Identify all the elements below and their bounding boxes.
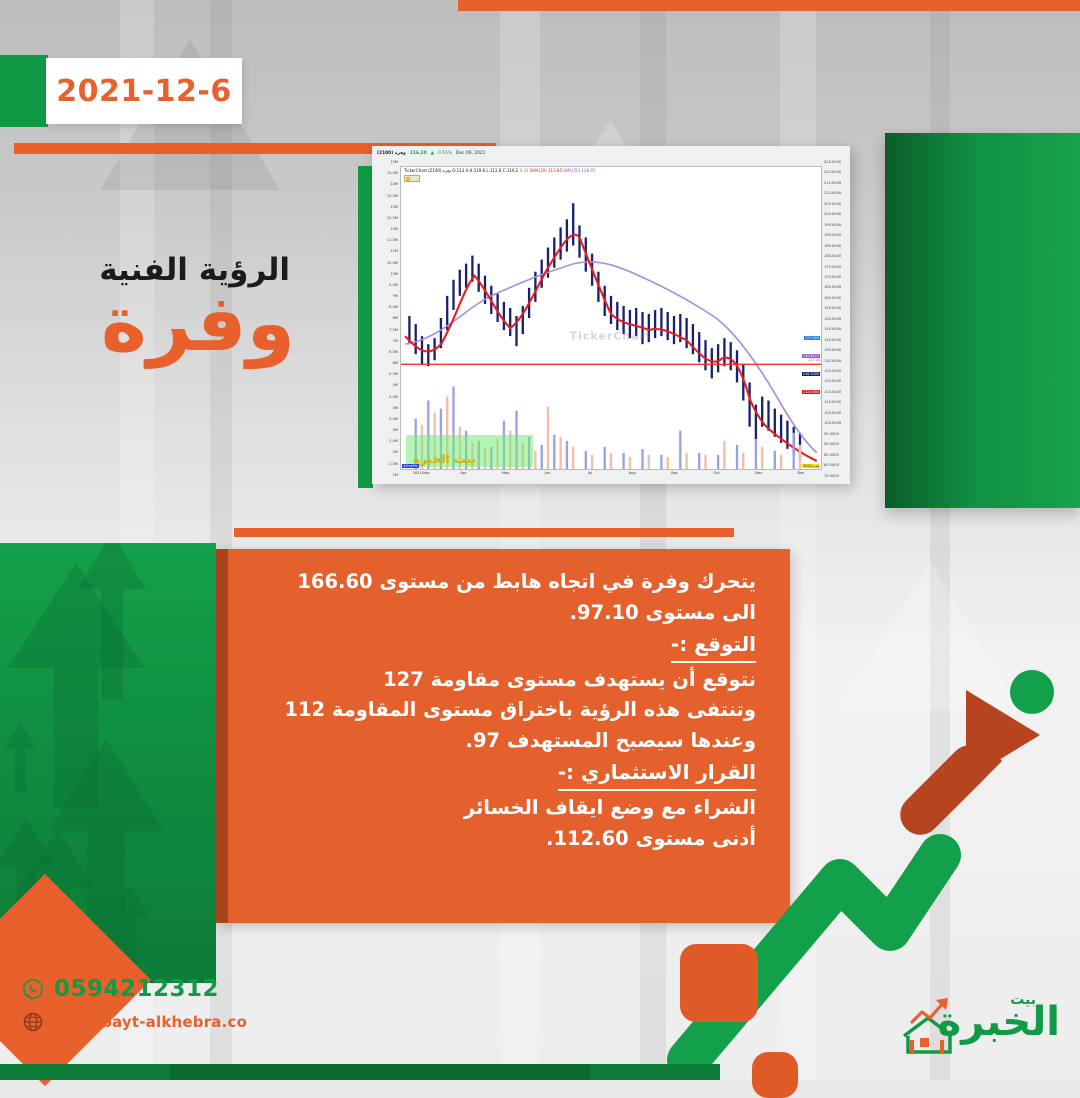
y-tick-right: 145.0000	[824, 327, 841, 331]
x-tick: 2021/Mar	[400, 471, 442, 483]
y-tick-left: 3.5M	[389, 417, 398, 421]
chart-last-price: 116.20	[410, 151, 427, 156]
ohlc-values: TickerChart وفرة (2100) O:113.4 H:119.6 …	[404, 168, 518, 173]
y-tick-left: 9.5M	[389, 283, 398, 287]
y-tick-left: 2M	[393, 450, 398, 454]
y-tick-right: 170.0000	[824, 275, 841, 279]
y-tick-left: 8M	[393, 316, 398, 320]
chart-plot-area: TickerChart وفرة (2100) O:113.4 H:119.6 …	[400, 166, 822, 470]
y-tick-left: 3M	[393, 428, 398, 432]
logo-text-main: الخبرة	[938, 1002, 1060, 1042]
y-tick-right: 215.0000	[824, 181, 841, 185]
price-tag: 112.0000	[802, 390, 820, 394]
bottom-green-bar-dark	[170, 1064, 590, 1080]
x-axis-left-tag: #ifreeMe	[402, 464, 419, 468]
y-tick-right: 75.0000	[824, 474, 839, 478]
y-tick-right: 90.0000	[824, 442, 839, 446]
price-tag: 116.2000	[802, 372, 820, 376]
y-tick-right: 155.0000	[824, 306, 841, 310]
y-tick-right: 195.0000	[824, 223, 841, 227]
website-row[interactable]: www.bayt-alkhebra.co	[22, 1011, 272, 1033]
y-tick-right: 200.0000	[824, 212, 841, 216]
y-tick-left: 12M	[390, 227, 398, 231]
y-tick-right: 185.0000	[824, 244, 841, 248]
up-arrow-icon	[4, 723, 36, 793]
whatsapp-icon	[22, 978, 44, 1000]
phone-row[interactable]: 0594212312	[22, 976, 272, 1002]
y-tick-right: 105.0000	[824, 411, 841, 415]
x-tick: Nov	[738, 471, 780, 483]
y-tick-right: 80.0000	[824, 463, 839, 467]
date-badge-accent	[0, 55, 48, 127]
x-tick: Sep	[653, 471, 695, 483]
orange-square-accent	[680, 944, 758, 1022]
y-tick-left: 11.5M	[387, 238, 398, 242]
y-tick-left: 7.5M	[389, 328, 398, 332]
y-tick-right: 100.0000	[824, 421, 841, 425]
y-tick-left: 10.5M	[387, 261, 398, 265]
date-badge: 2021-12-6	[46, 58, 242, 124]
support-level-label: 127.00	[808, 358, 820, 362]
y-tick-left: 6M	[393, 361, 398, 365]
chart-x-axis: 2021/MarAprMayJunJulAugSepOctNovDec	[400, 471, 822, 483]
orange-square-accent	[752, 1052, 798, 1098]
y-tick-left: 2.5M	[389, 439, 398, 443]
y-tick-right: 135.0000	[824, 348, 841, 352]
x-tick: Dec	[780, 471, 822, 483]
y-tick-left: 13.5M	[387, 194, 398, 198]
contact-block: 0594212312 www.bayt-alkhebra.co	[22, 976, 272, 1042]
y-tick-right: 190.0000	[824, 233, 841, 237]
x-tick: Aug	[611, 471, 653, 483]
y-tick-left: 14M	[390, 182, 398, 186]
arrow-head-icon	[892, 690, 1040, 843]
chart-body: 15M14.5M14M13.5M13M12.5M12M11.5M11M10.5M…	[372, 160, 850, 484]
y-tick-right: 205.0000	[824, 202, 841, 206]
chart-change-pct: 0.16%	[438, 151, 452, 156]
chart-legend-chip	[404, 175, 420, 182]
y-tick-right: 220.0000	[824, 170, 841, 174]
y-tick-left: 14.5M	[387, 171, 398, 175]
y-tick-right: 125.0000	[824, 369, 841, 373]
chart-quote-date: Dec 06, 2021	[456, 151, 485, 156]
x-axis-right-tag: وفرة/2021	[802, 464, 820, 468]
arrow-accent-dot	[1010, 670, 1054, 714]
y-tick-left: 9M	[393, 294, 398, 298]
y-tick-right: 210.0000	[824, 191, 841, 195]
phone-number: 0594212312	[54, 976, 219, 1002]
y-tick-left: 7M	[393, 339, 398, 343]
ma-fast-label: SMA(20) 113.85	[530, 168, 562, 173]
y-tick-left: 13M	[390, 205, 398, 209]
brand-logo: بيت الخبرة	[890, 990, 1066, 1062]
x-tick: Jul	[569, 471, 611, 483]
x-tick: Oct	[695, 471, 737, 483]
ma-slow-label: SMA(50) 128.95	[563, 168, 595, 173]
y-tick-left: 5M	[393, 383, 398, 387]
chart-symbol: وفرة (2100)	[377, 151, 406, 156]
y-tick-left: 6.5M	[389, 350, 398, 354]
date-text: 2021-12-6	[56, 74, 232, 109]
y-tick-right: 85.0000	[824, 453, 839, 457]
y-tick-right: 130.0000	[824, 359, 841, 363]
globe-icon	[22, 1011, 44, 1033]
y-tick-left: 8.5M	[389, 305, 398, 309]
chart-change-icon: ▲	[431, 151, 434, 156]
top-accent-bar	[458, 0, 1080, 11]
green-accent-strip	[358, 166, 373, 488]
chart-card: وفرة (2100) 116.20 ▲ 0.16% Dec 06, 2021 …	[372, 146, 850, 484]
ohlc-close: 0.42	[520, 168, 529, 173]
y-tick-right: 110.0000	[824, 400, 841, 404]
page-title: وفرة	[101, 285, 295, 363]
up-arrow-icon	[78, 543, 146, 699]
price-tag: 118.6275	[802, 354, 820, 358]
price-tag: 127.000	[804, 336, 820, 340]
analysis-line-2: الى مستوى 97.10.	[238, 598, 756, 629]
y-tick-left: 4.5M	[389, 395, 398, 399]
y-tick-left: 12.5M	[387, 216, 398, 220]
x-tick: Apr	[442, 471, 484, 483]
chart-y-axis-right: 225.0000220.0000215.0000210.0000205.0000…	[822, 160, 850, 484]
text-panel-divider	[234, 528, 734, 537]
website-url: www.bayt-alkhebra.co	[54, 1013, 247, 1031]
y-tick-left: 5.5M	[389, 372, 398, 376]
y-tick-right: 165.0000	[824, 285, 841, 289]
green-accent-block	[885, 133, 1080, 508]
chart-canvas	[401, 167, 821, 469]
y-tick-right: 120.0000	[824, 379, 841, 383]
y-tick-right: 115.0000	[824, 390, 841, 394]
y-tick-left: 10M	[390, 272, 398, 276]
x-tick: May	[484, 471, 526, 483]
y-tick-right: 180.0000	[824, 254, 841, 258]
y-tick-left: 15M	[390, 160, 398, 164]
chart-y-axis-left: 15M14.5M14M13.5M13M12.5M12M11.5M11M10.5M…	[372, 160, 400, 484]
chart-ohlc-line: TickerChart وفرة (2100) O:113.4 H:119.6 …	[404, 168, 596, 173]
y-tick-right: 95.0000	[824, 432, 839, 436]
y-tick-right: 225.0000	[824, 160, 841, 164]
y-tick-right: 140.0000	[824, 338, 841, 342]
y-tick-right: 150.0000	[824, 317, 841, 321]
y-tick-left: 1M	[393, 473, 398, 477]
chart-watermark: TickerChart	[570, 330, 653, 343]
y-tick-right: 175.0000	[824, 265, 841, 269]
chart-arabic-watermark: بيت الخبرة	[413, 452, 476, 466]
y-tick-left: 4M	[393, 406, 398, 410]
x-tick: Jun	[527, 471, 569, 483]
y-tick-left: 11M	[390, 249, 398, 253]
analysis-line-1: يتحرك وفرة في اتجاه هابط من مستوى 166.60	[238, 567, 756, 598]
y-tick-left: 1.5M	[389, 462, 398, 466]
y-tick-right: 160.0000	[824, 296, 841, 300]
chart-quote-bar: وفرة (2100) 116.20 ▲ 0.16% Dec 06, 2021	[372, 146, 850, 160]
